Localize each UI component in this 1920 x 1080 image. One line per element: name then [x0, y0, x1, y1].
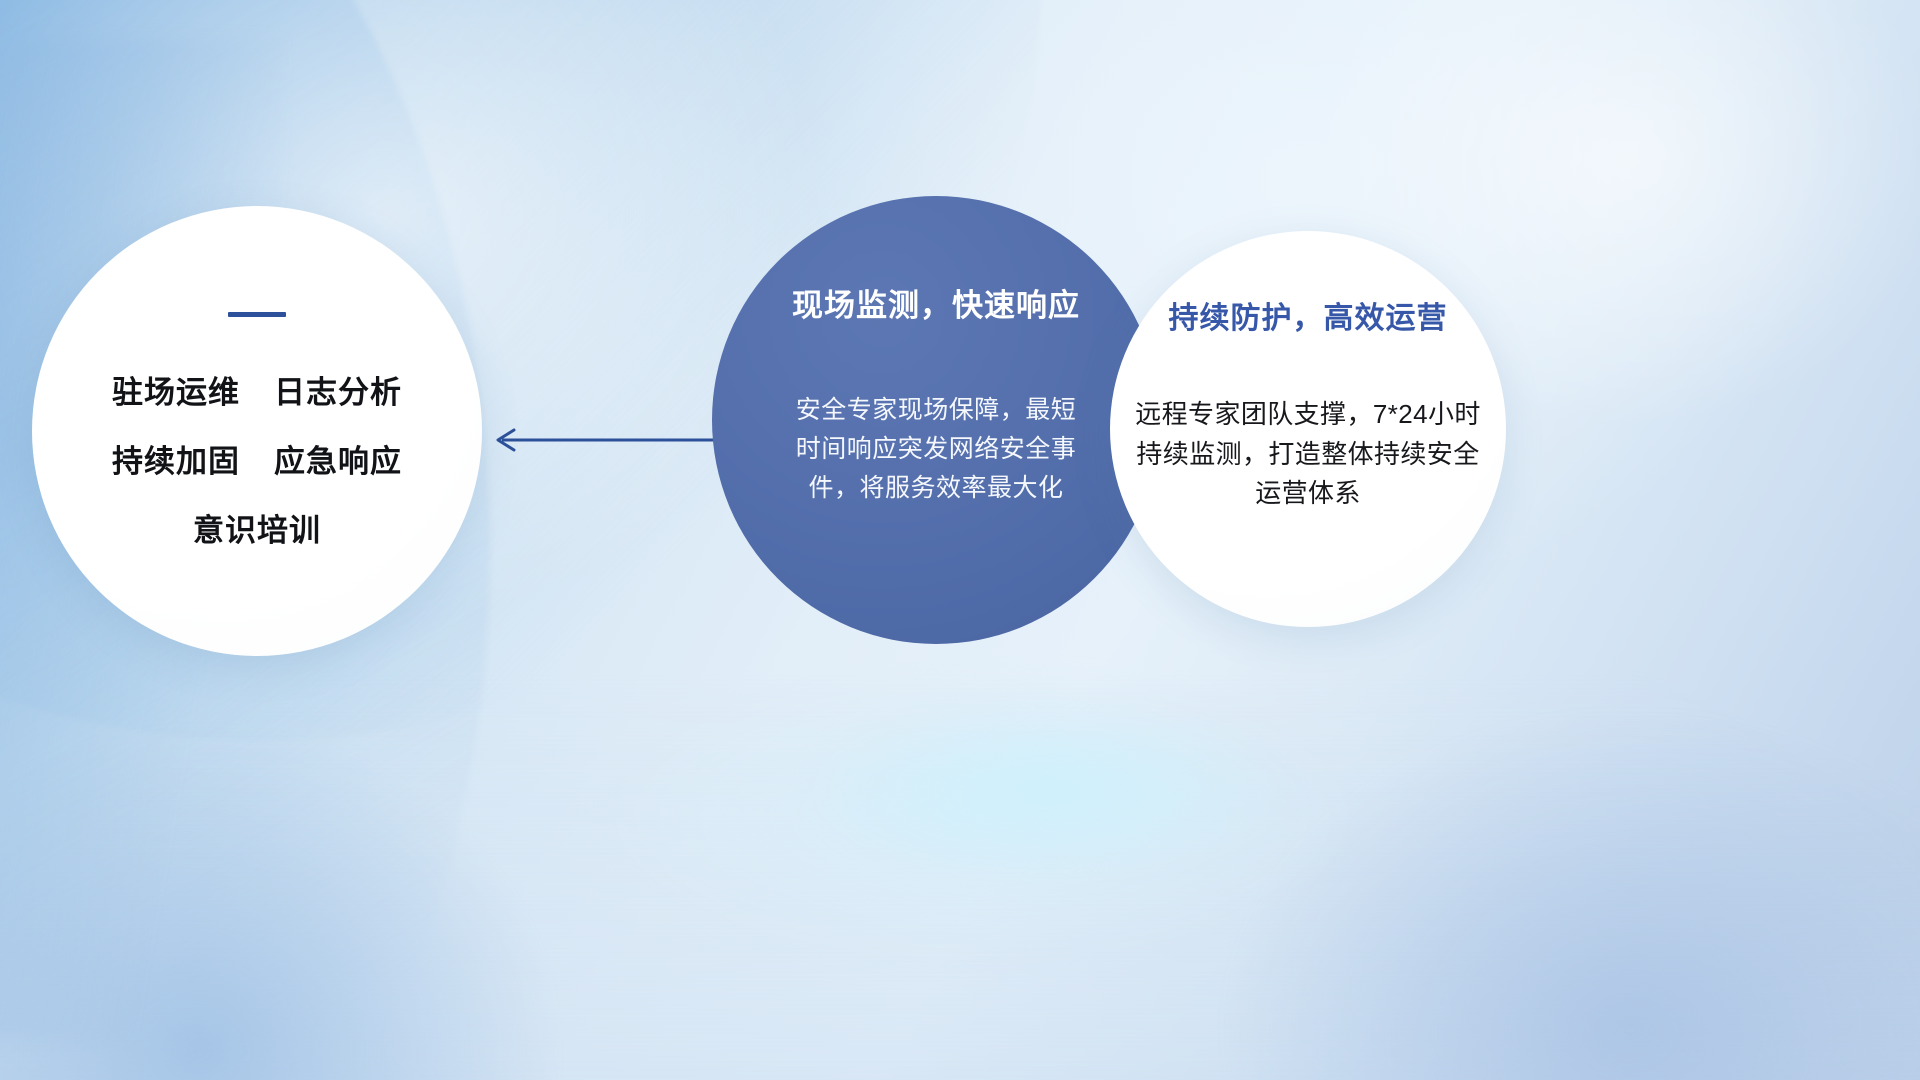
capability-tag-row: 意识培训 [193, 505, 321, 550]
capability-tag-row: 驻场运维 日志分析 [112, 367, 402, 412]
capability-circle-left[interactable]: 驻场运维 日志分析 持续加固 应急响应 意识培训 [32, 206, 482, 656]
onsite-monitoring-circle[interactable]: 现场监测，快速响应 安全专家现场保障，最短时间响应突发网络安全事件，将服务效率最… [712, 196, 1160, 644]
continuous-protection-title: 持续防护，高效运营 [1169, 293, 1448, 337]
capability-tag-list: 驻场运维 日志分析 持续加固 应急响应 意识培训 [112, 367, 402, 550]
onsite-monitoring-title: 现场监测，快速响应 [792, 280, 1080, 325]
capability-tag: 驻场运维 [112, 367, 240, 412]
diagram-canvas: 驻场运维 日志分析 持续加固 应急响应 意识培训 现场监测，快速响应 安全专家现… [0, 0, 1920, 1080]
capability-tag-row: 持续加固 应急响应 [112, 436, 402, 481]
horizontal-dash-icon [228, 312, 286, 317]
capability-tag: 应急响应 [274, 436, 402, 481]
continuous-protection-body: 远程专家团队支撑，7*24小时持续监测，打造整体持续安全运营体系 [1133, 395, 1483, 514]
capability-tag: 日志分析 [274, 367, 402, 412]
arrow-left-icon [480, 410, 720, 470]
continuous-protection-circle[interactable]: 持续防护，高效运营 远程专家团队支撑，7*24小时持续监测，打造整体持续安全运营… [1110, 231, 1506, 627]
capability-tag: 意识培训 [193, 505, 321, 550]
background-mist-cyan [700, 660, 1400, 920]
capability-tag: 持续加固 [112, 436, 240, 481]
onsite-monitoring-body: 安全专家现场保障，最短时间响应突发网络安全事件，将服务效率最大化 [786, 391, 1086, 508]
